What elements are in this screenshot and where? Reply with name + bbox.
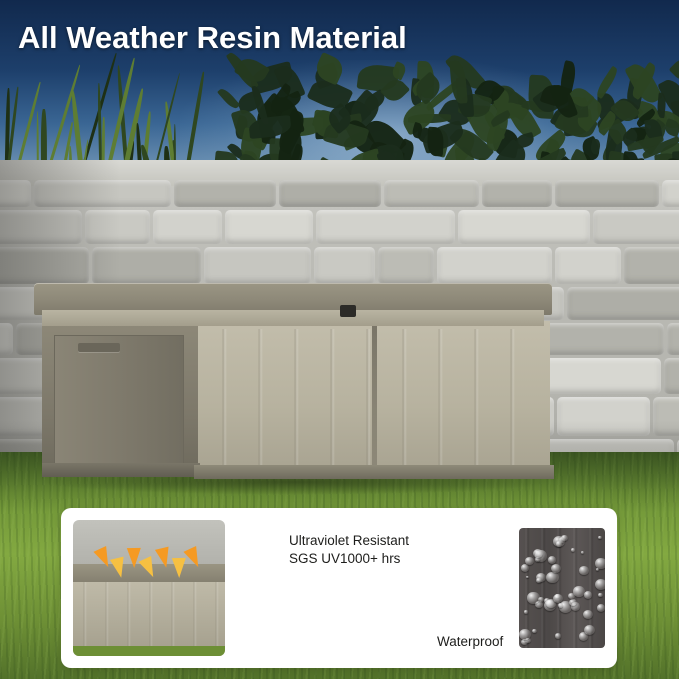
photo-grass xyxy=(73,646,225,656)
uv-feature-photo xyxy=(73,520,225,656)
uv-feature-line1: Ultraviolet Resistant xyxy=(289,532,519,550)
feature-card: Ultraviolet Resistant SGS UV1000+ hrs Wa… xyxy=(61,508,617,668)
deck-storage-box xyxy=(28,283,548,498)
box-lid-face xyxy=(42,310,544,326)
photo-box-grain xyxy=(73,582,225,656)
uv-feature-line2: SGS UV1000+ hrs xyxy=(289,550,519,568)
page-title: All Weather Resin Material xyxy=(18,20,407,56)
box-side-handle xyxy=(78,343,120,352)
sun-rays-icon xyxy=(97,544,207,590)
waterproof-label: Waterproof xyxy=(437,634,503,649)
box-front-divider xyxy=(372,323,377,475)
uv-feature-text: Ultraviolet Resistant SGS UV1000+ hrs xyxy=(289,532,519,568)
box-front-base xyxy=(194,465,554,479)
water-droplets-icon xyxy=(519,528,605,648)
box-latch-icon xyxy=(340,305,356,317)
product-infographic: All Weather Resin Material Ultraviolet R… xyxy=(0,0,679,679)
box-left-panel xyxy=(54,335,184,465)
box-left-base xyxy=(42,463,200,477)
